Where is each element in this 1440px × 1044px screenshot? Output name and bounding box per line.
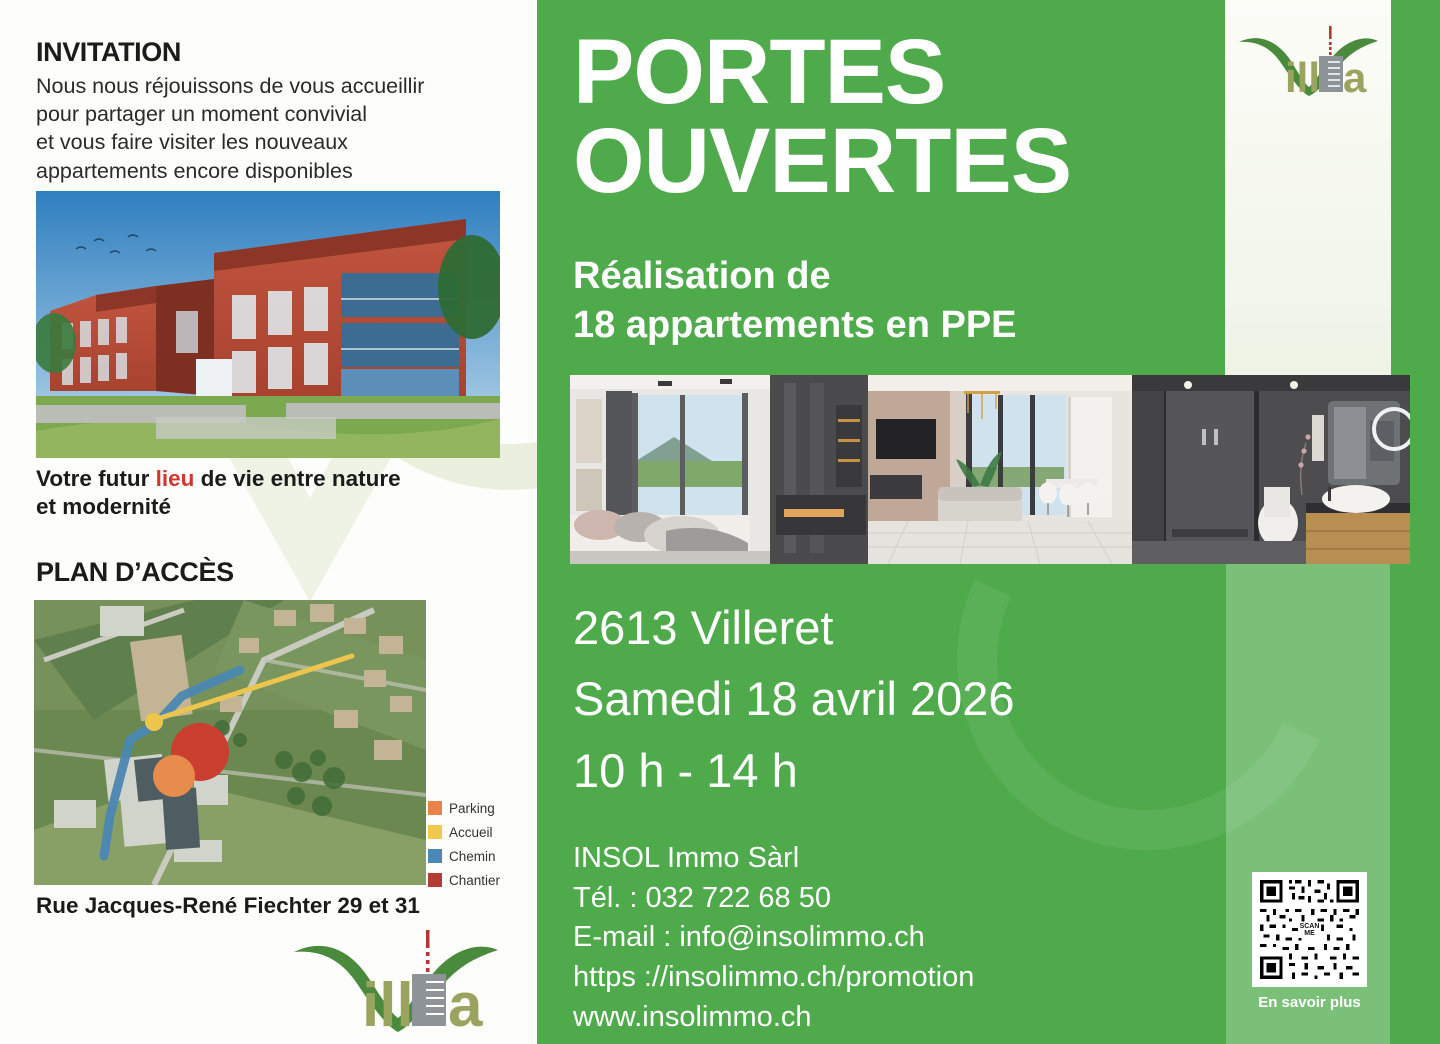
- legend-swatch-chemin: [428, 849, 442, 863]
- legend-item: Chemin: [428, 844, 528, 868]
- qr-code-icon[interactable]: SCAN ME: [1252, 872, 1367, 987]
- legend-swatch-accueil: [428, 825, 442, 839]
- legend-label-chemin: Chemin: [449, 849, 496, 864]
- interior-photo-bedroom: [570, 375, 868, 564]
- legend-item: Accueil: [428, 820, 528, 844]
- legend-swatch-chantier: [428, 873, 442, 887]
- access-map-photo: [34, 600, 426, 885]
- villa-logo-top: ill a: [1235, 22, 1381, 98]
- invitation-body: Nous nous réjouissons de vous accueillir…: [36, 72, 506, 186]
- left-info-panel: INVITATION Nous nous réjouissons de vous…: [0, 0, 537, 1044]
- interior-photo-bathroom: [1132, 375, 1410, 564]
- headline-line-2: OUVERTES: [573, 117, 1071, 206]
- building-render-photo: [36, 191, 500, 458]
- svg-text:ill: ill: [362, 971, 414, 1034]
- headline-line-1: PORTES: [573, 28, 1071, 117]
- page-title: PORTES OUVERTES: [573, 28, 1071, 206]
- flyer-poster: INVITATION Nous nous réjouissons de vous…: [0, 0, 1440, 1044]
- invitation-title: INVITATION: [36, 38, 506, 68]
- svg-text:ill: ill: [1285, 54, 1320, 98]
- interior-photo-living-dining: [868, 375, 1132, 564]
- logo-card: ill a: [1225, 0, 1391, 378]
- qr-center-label: SCAN ME: [1298, 922, 1322, 938]
- caption-highlight: lieu: [156, 466, 195, 491]
- caption-part-1: Votre futur: [36, 466, 156, 491]
- site-address: Rue Jacques-René Fiechter 29 et 31: [36, 893, 420, 919]
- invitation-block: INVITATION Nous nous réjouissons de vous…: [36, 38, 506, 185]
- legend-label-accueil: Accueil: [449, 825, 493, 840]
- contact-details: INSOL Immo Sàrl Tél. : 032 722 68 50 E-m…: [573, 839, 974, 1038]
- plan-access-title: PLAN D’ACCÈS: [36, 558, 234, 588]
- interior-photo-strip: [570, 375, 1410, 564]
- villa-logo-bottom: ill a: [288, 922, 503, 1034]
- event-details: 2613 Villeret Samedi 18 avril 2026 10 h …: [573, 592, 1015, 806]
- qr-block[interactable]: SCAN ME En savoir plus: [1252, 872, 1367, 1011]
- map-legend: Parking Accueil Chemin Chantier: [428, 796, 528, 892]
- subtitle: Réalisation de 18 appartements en PPE: [573, 252, 1017, 349]
- legend-item: Chantier: [428, 868, 528, 892]
- svg-text:a: a: [1343, 54, 1367, 98]
- svg-text:a: a: [448, 971, 483, 1034]
- building-caption: Votre futur lieu de vie entre nature et …: [36, 465, 506, 521]
- legend-label-chantier: Chantier: [449, 873, 500, 888]
- right-green-panel: ill a PORTES OUVERTES Réalisation de 18 …: [537, 0, 1440, 1044]
- legend-swatch-parking: [428, 801, 442, 815]
- legend-label-parking: Parking: [449, 801, 495, 816]
- legend-item: Parking: [428, 796, 528, 820]
- qr-caption: En savoir plus: [1252, 994, 1367, 1011]
